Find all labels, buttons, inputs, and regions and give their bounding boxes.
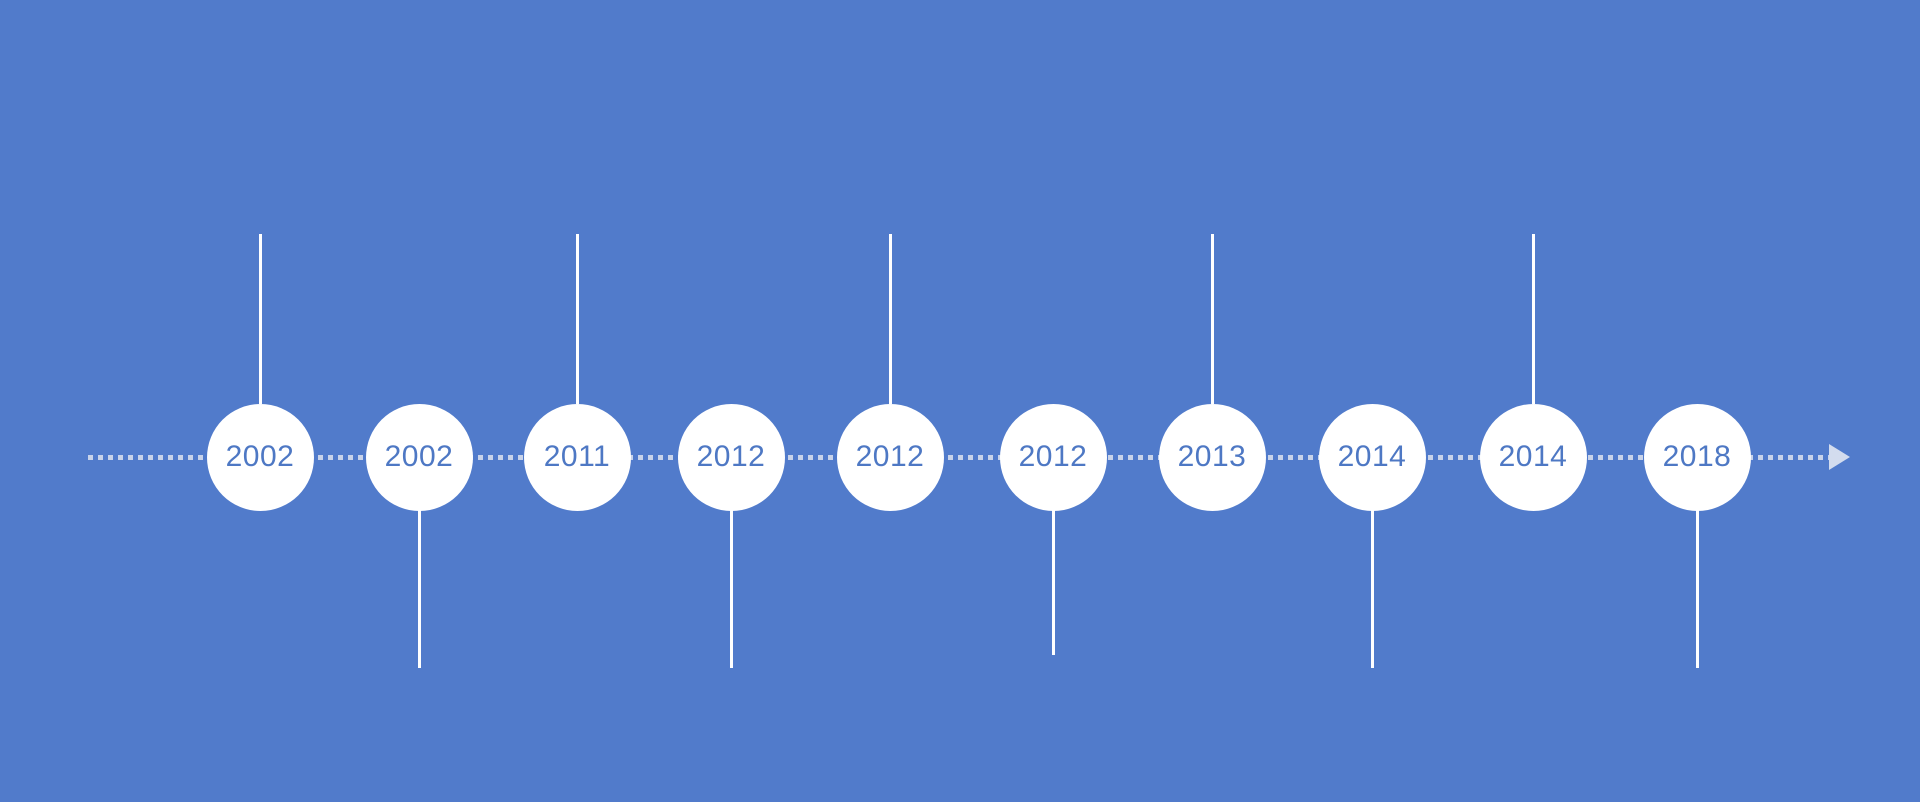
timeline-node-circle[interactable]: 2011	[524, 404, 631, 511]
timeline-node-circle[interactable]: 2012	[837, 404, 944, 511]
timeline-node-year-label: 2012	[856, 442, 925, 472]
timeline-node-stem-down	[1052, 510, 1055, 655]
timeline-node-circle[interactable]: 2018	[1644, 404, 1751, 511]
timeline-node-circle[interactable]: 2014	[1480, 404, 1587, 511]
timeline-node-stem-down	[1371, 510, 1374, 668]
timeline-node-stem-down	[1696, 510, 1699, 668]
timeline-node-stem-down	[418, 510, 421, 668]
timeline-node-circle[interactable]: 2014	[1319, 404, 1426, 511]
timeline-node-stem-up	[1211, 234, 1214, 404]
timeline-node-year-label: 2002	[385, 442, 454, 472]
timeline-arrow-icon	[1829, 444, 1850, 470]
timeline-node-year-label: 2018	[1663, 442, 1732, 472]
timeline-node-year-label: 2002	[226, 442, 295, 472]
timeline-node-stem-up	[1532, 234, 1535, 404]
timeline-node-circle[interactable]: 2012	[678, 404, 785, 511]
timeline-node-stem-up	[889, 234, 892, 404]
timeline-node-circle[interactable]: 2002	[366, 404, 473, 511]
timeline-node-year-label: 2014	[1499, 442, 1568, 472]
timeline-node-circle[interactable]: 2013	[1159, 404, 1266, 511]
timeline-node-circle[interactable]: 2012	[1000, 404, 1107, 511]
timeline-node-year-label: 2012	[1019, 442, 1088, 472]
timeline-canvas: 2002200220112012201220122013201420142018	[0, 0, 1920, 802]
timeline-node-stem-up	[259, 234, 262, 404]
timeline-node-year-label: 2012	[697, 442, 766, 472]
timeline-node-year-label: 2011	[544, 442, 611, 472]
timeline-node-year-label: 2014	[1338, 442, 1407, 472]
timeline-node-circle[interactable]: 2002	[207, 404, 314, 511]
timeline-node-stem-up	[576, 234, 579, 404]
timeline-node-stem-down	[730, 510, 733, 668]
timeline-node-year-label: 2013	[1178, 442, 1247, 472]
